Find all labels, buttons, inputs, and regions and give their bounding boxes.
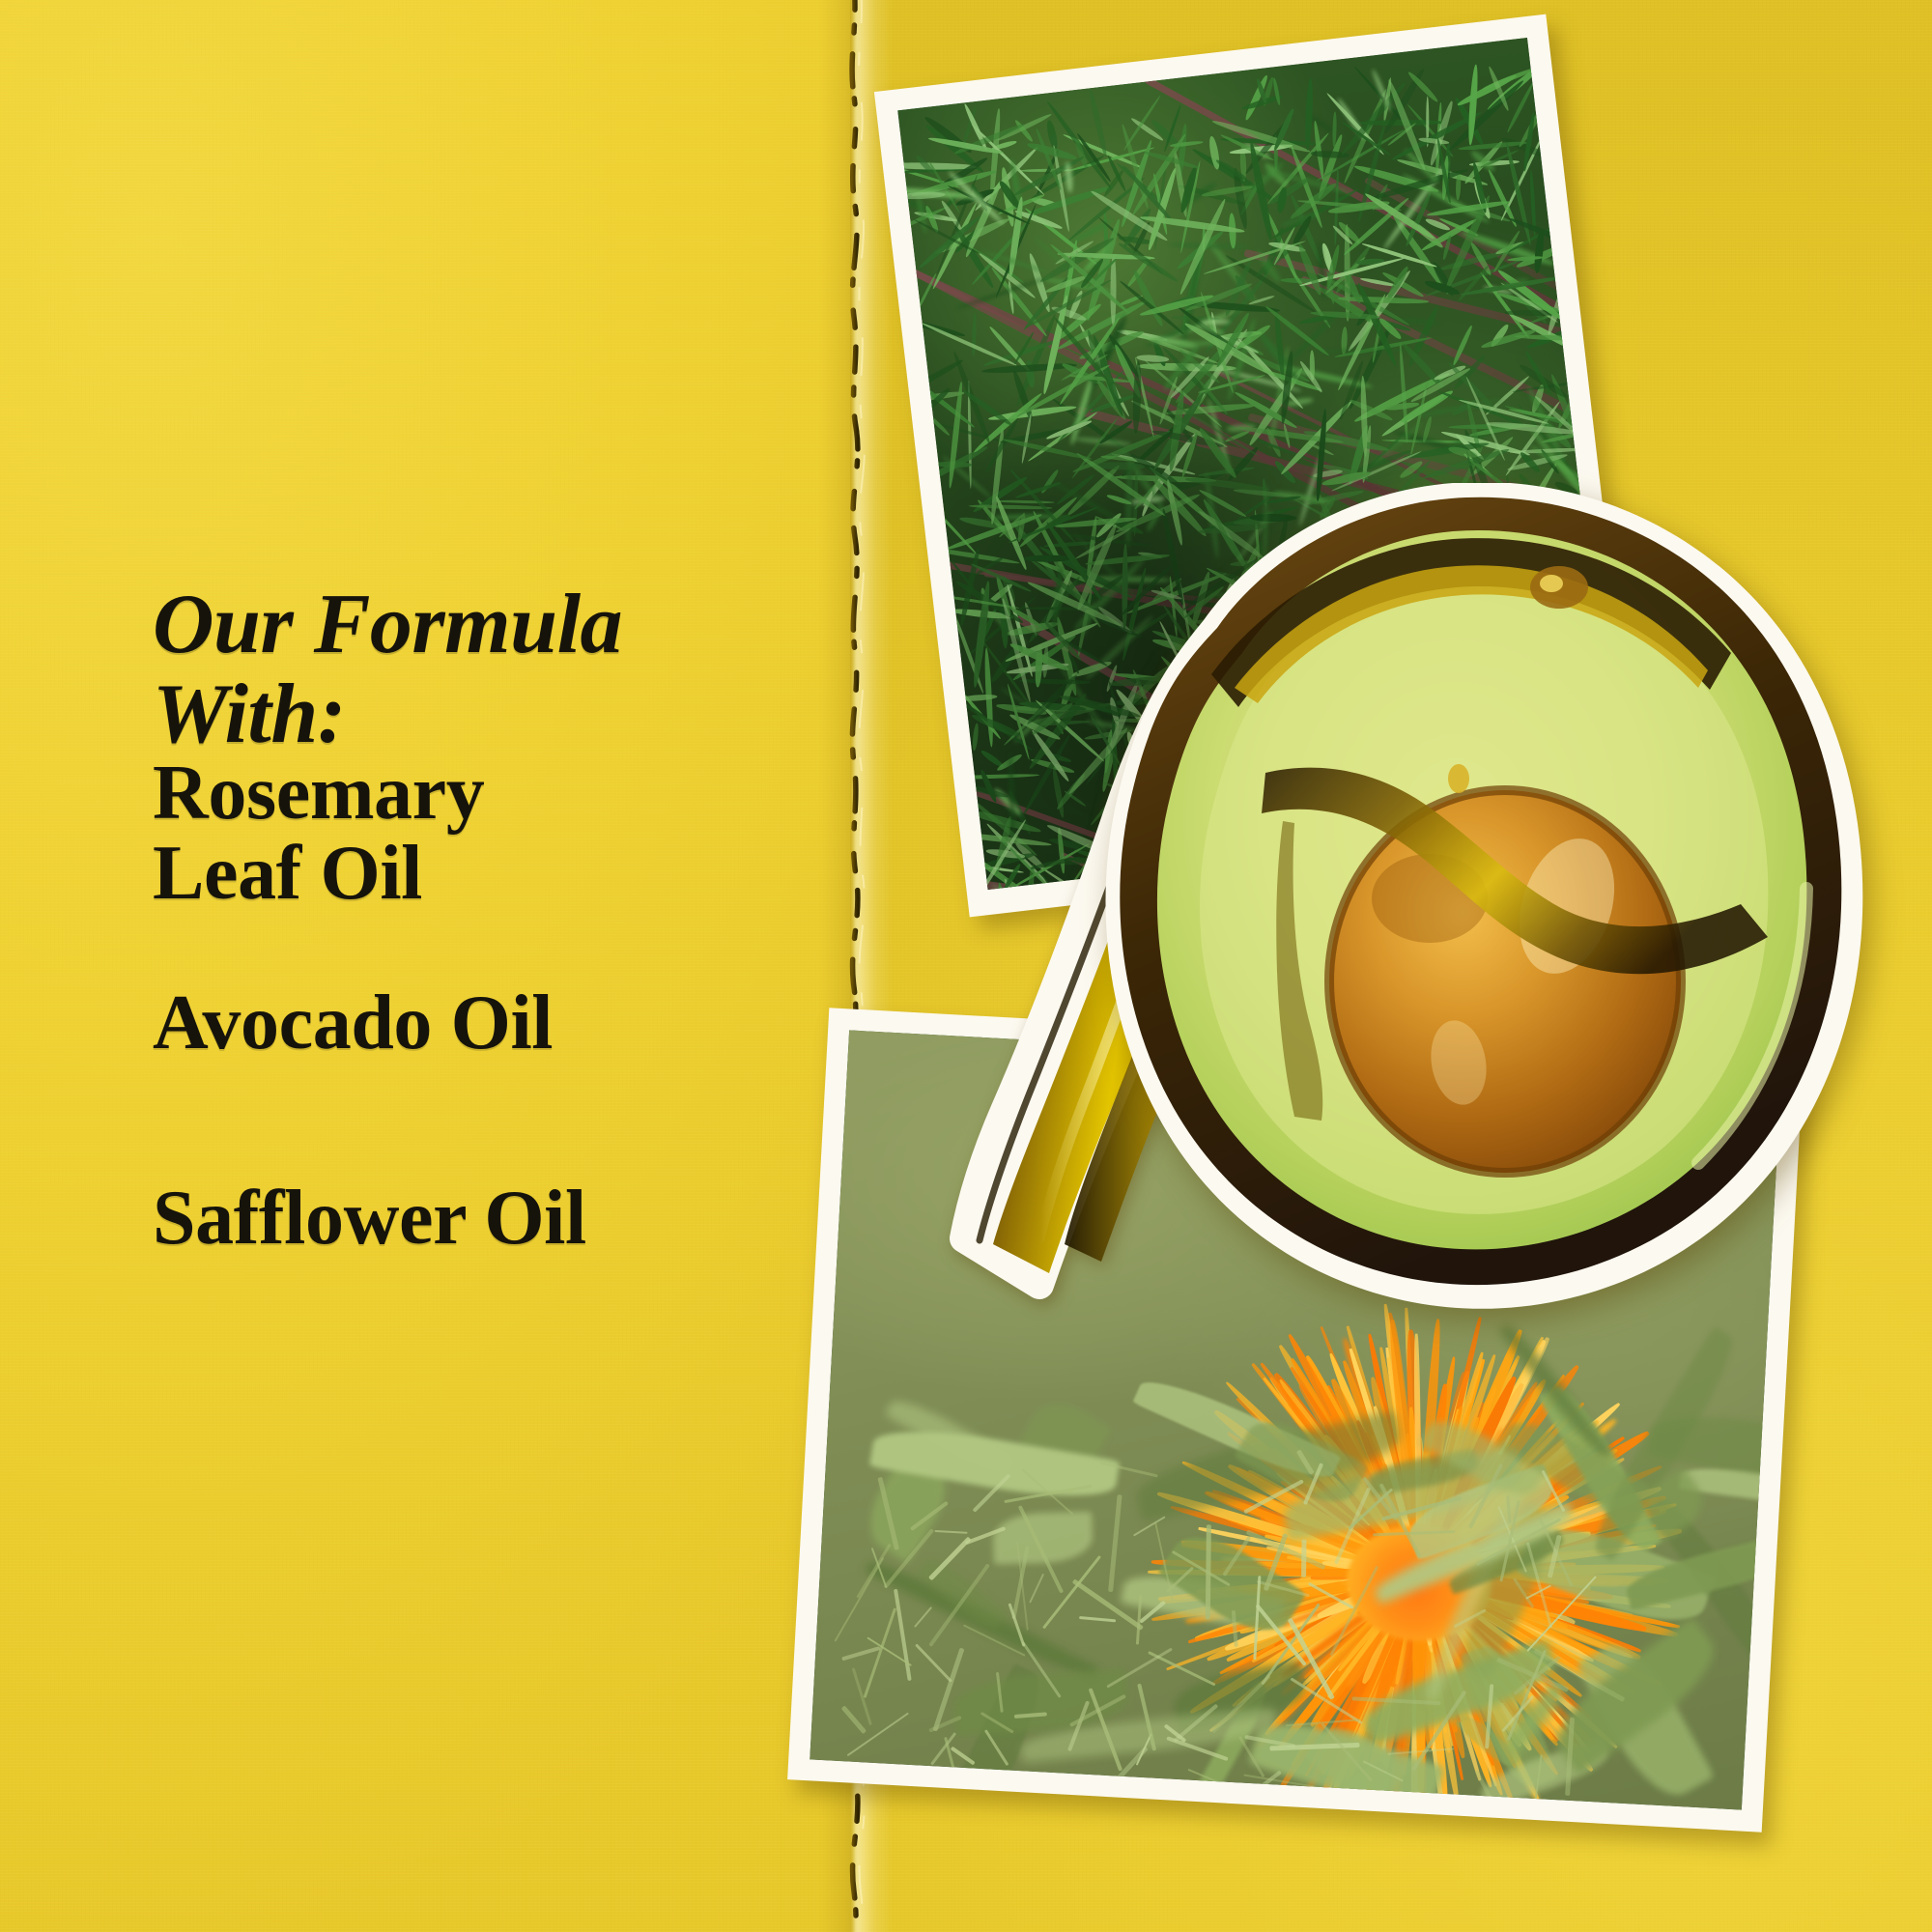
safflower-thorn [894,1589,912,1682]
safflower-thorn [840,1706,867,1735]
ingredient-rosemary: Rosemary Leaf Oil [153,753,484,914]
safflower-thorn [915,1644,952,1683]
headline-line-2: With: [153,669,622,759]
ingredient-safflower-line-1: Safflower Oil [153,1179,586,1259]
safflower-thorn [1206,1524,1211,1619]
headline-line-1: Our Formula [153,580,622,669]
safflower-thorn [1301,1539,1306,1577]
ingredient-safflower: Safflower Oil [153,1179,586,1259]
ingredient-rosemary-line-1: Rosemary [153,753,484,834]
avocado-cutout [976,483,1932,1314]
poster-canvas: Our Formula With: Rosemary Leaf Oil Avoc… [0,0,1932,1932]
ingredient-avocado: Avocado Oil [153,983,553,1064]
avocado-stem-blob-highlight [1540,575,1563,592]
safflower-thorn [1029,1574,1044,1603]
safflower-thorn [934,1530,967,1534]
background-panel-left [0,0,860,1932]
ingredient-rosemary-line-2: Leaf Oil [153,834,484,914]
ingredient-avocado-line-1: Avocado Oil [153,983,553,1064]
safflower-thorn [914,1606,932,1628]
safflower-thorn [841,1646,881,1661]
page-title: Our Formula With: [153,580,622,760]
safflower-thorn [944,1737,961,1791]
oil-droplet [1448,764,1469,793]
